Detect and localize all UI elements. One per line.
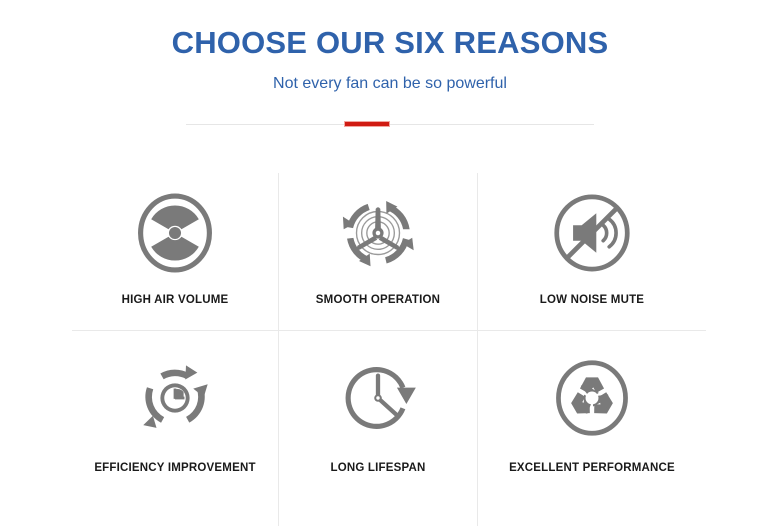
feature-label: EXCELLENT PERFORMANCE — [509, 461, 675, 475]
feature-label: LOW NOISE MUTE — [540, 293, 644, 307]
feature-cell-smooth-operation[interactable]: SMOOTH OPERATION — [279, 173, 477, 330]
clock-cycle-icon — [132, 355, 218, 441]
feature-label: EFFICIENCY IMPROVEMENT — [94, 461, 255, 475]
feature-cell-low-noise-mute[interactable]: LOW NOISE MUTE — [478, 173, 706, 330]
divider-line — [186, 124, 594, 125]
fan-rotation-icon — [335, 190, 421, 276]
page-subtitle: Not every fan can be so powerful — [0, 62, 780, 94]
feature-label: LONG LIFESPAN — [330, 461, 425, 475]
recycle-circle-icon — [549, 355, 635, 441]
page-header: CHOOSE OUR SIX REASONS Not every fan can… — [0, 0, 780, 94]
clock-arrow-icon — [335, 355, 421, 441]
feature-grid: HIGH AIR VOLUME — [72, 173, 706, 526]
feature-cell-efficiency-improvement[interactable]: EFFICIENCY IMPROVEMENT — [72, 331, 278, 501]
radiation-icon — [132, 190, 218, 276]
divider-accent-bar — [344, 121, 390, 127]
feature-label: HIGH AIR VOLUME — [122, 293, 229, 307]
page-title: CHOOSE OUR SIX REASONS — [0, 0, 780, 62]
feature-label: SMOOTH OPERATION — [316, 293, 440, 307]
feature-highlights-page: CHOOSE OUR SIX REASONS Not every fan can… — [0, 0, 780, 526]
feature-cell-excellent-performance[interactable]: EXCELLENT PERFORMANCE — [478, 331, 706, 501]
feature-cell-high-air-volume[interactable]: HIGH AIR VOLUME — [72, 173, 278, 330]
feature-cell-long-lifespan[interactable]: LONG LIFESPAN — [279, 331, 477, 501]
speaker-mute-icon — [549, 190, 635, 276]
divider — [186, 118, 594, 132]
